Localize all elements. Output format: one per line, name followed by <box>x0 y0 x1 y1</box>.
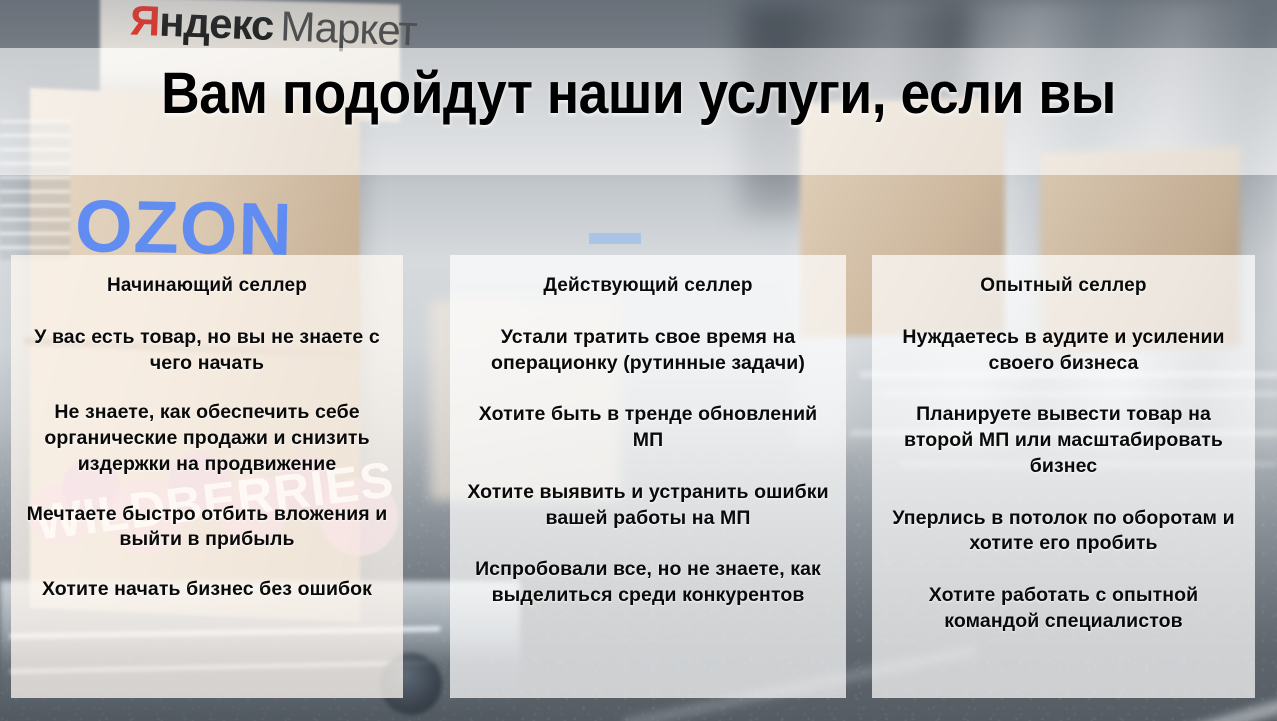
column-active-seller: Действующий селлер Устали тратить свое в… <box>450 255 846 698</box>
list-item: Планируете вывести товар на второй МП ил… <box>884 402 1243 479</box>
accent-dash <box>589 233 641 244</box>
list-item: Хотите работать с опытной командой специ… <box>884 583 1243 634</box>
list-item: У вас есть товар, но вы не знаете с чего… <box>23 325 391 376</box>
yandex-market-word: Маркет <box>280 2 418 54</box>
list-item: Хотите выявить и устранить ошибки вашей … <box>462 480 834 531</box>
list-item: Не знаете, как обеспечить себе органичес… <box>23 400 391 477</box>
column-header: Действующий селлер <box>462 275 834 297</box>
column-header: Опытный селлер <box>884 275 1243 297</box>
yandex-logo-letter: Я <box>129 0 160 45</box>
presentation-slide: ЯндексМаркет OZON WILDBERRIES Вам подойд… <box>0 0 1277 721</box>
list-item: Хотите начать бизнес без ошибок <box>23 577 391 603</box>
list-item: Нуждаетесь в аудите и усилении своего би… <box>884 325 1243 376</box>
column-items: Устали тратить свое время на операционку… <box>462 325 834 609</box>
page-title: Вам подойдут наши услуги, если вы <box>51 60 1226 127</box>
list-item: Устали тратить свое время на операционку… <box>462 325 834 376</box>
column-experienced-seller: Опытный селлер Нуждаетесь в аудите и уси… <box>872 255 1255 698</box>
list-item: Мечтаете быстро отбить вложения и выйти … <box>23 502 391 553</box>
column-items: Нуждаетесь в аудите и усилении своего би… <box>884 325 1243 635</box>
column-items: У вас есть товар, но вы не знаете с чего… <box>23 325 391 603</box>
list-item: Уперлись в потолок по оборотам и хотите … <box>884 506 1243 557</box>
column-header: Начинающий селлер <box>23 275 391 297</box>
list-item: Испробовали все, но не знаете, как выдел… <box>462 557 834 608</box>
yandex-logo-word: ндекс <box>158 0 274 49</box>
column-beginner-seller: Начинающий селлер У вас есть товар, но в… <box>11 255 403 698</box>
list-item: Хотите быть в тренде обновлений МП <box>462 402 834 453</box>
